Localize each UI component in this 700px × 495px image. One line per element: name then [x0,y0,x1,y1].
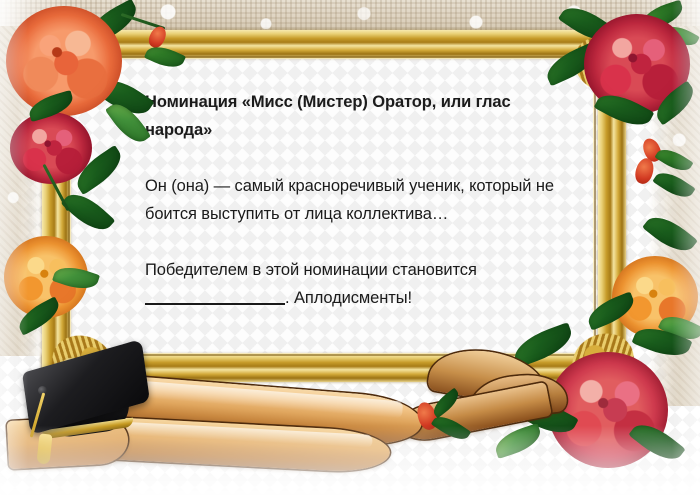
frame-rail-top [42,30,626,58]
nomination-winner-line: Победителем в этой номинации становится … [145,256,565,312]
nomination-description: Он (она) — самый красноречивый ученик, к… [145,172,565,228]
winner-line-suffix: . Аплодисменты! [285,289,412,307]
nomination-title: Номинация «Мисс (Мистер) Оратор, или гла… [145,88,565,144]
winner-name-blank[interactable] [145,303,285,305]
winner-line-prefix: Победителем в этой номинации становится [145,261,477,279]
graduation-cap-icon [18,352,168,457]
nomination-card: Номинация «Мисс (Мистер) Оратор, или гла… [0,0,700,495]
card-text-block: Номинация «Мисс (Мистер) Оратор, или гла… [145,88,565,312]
